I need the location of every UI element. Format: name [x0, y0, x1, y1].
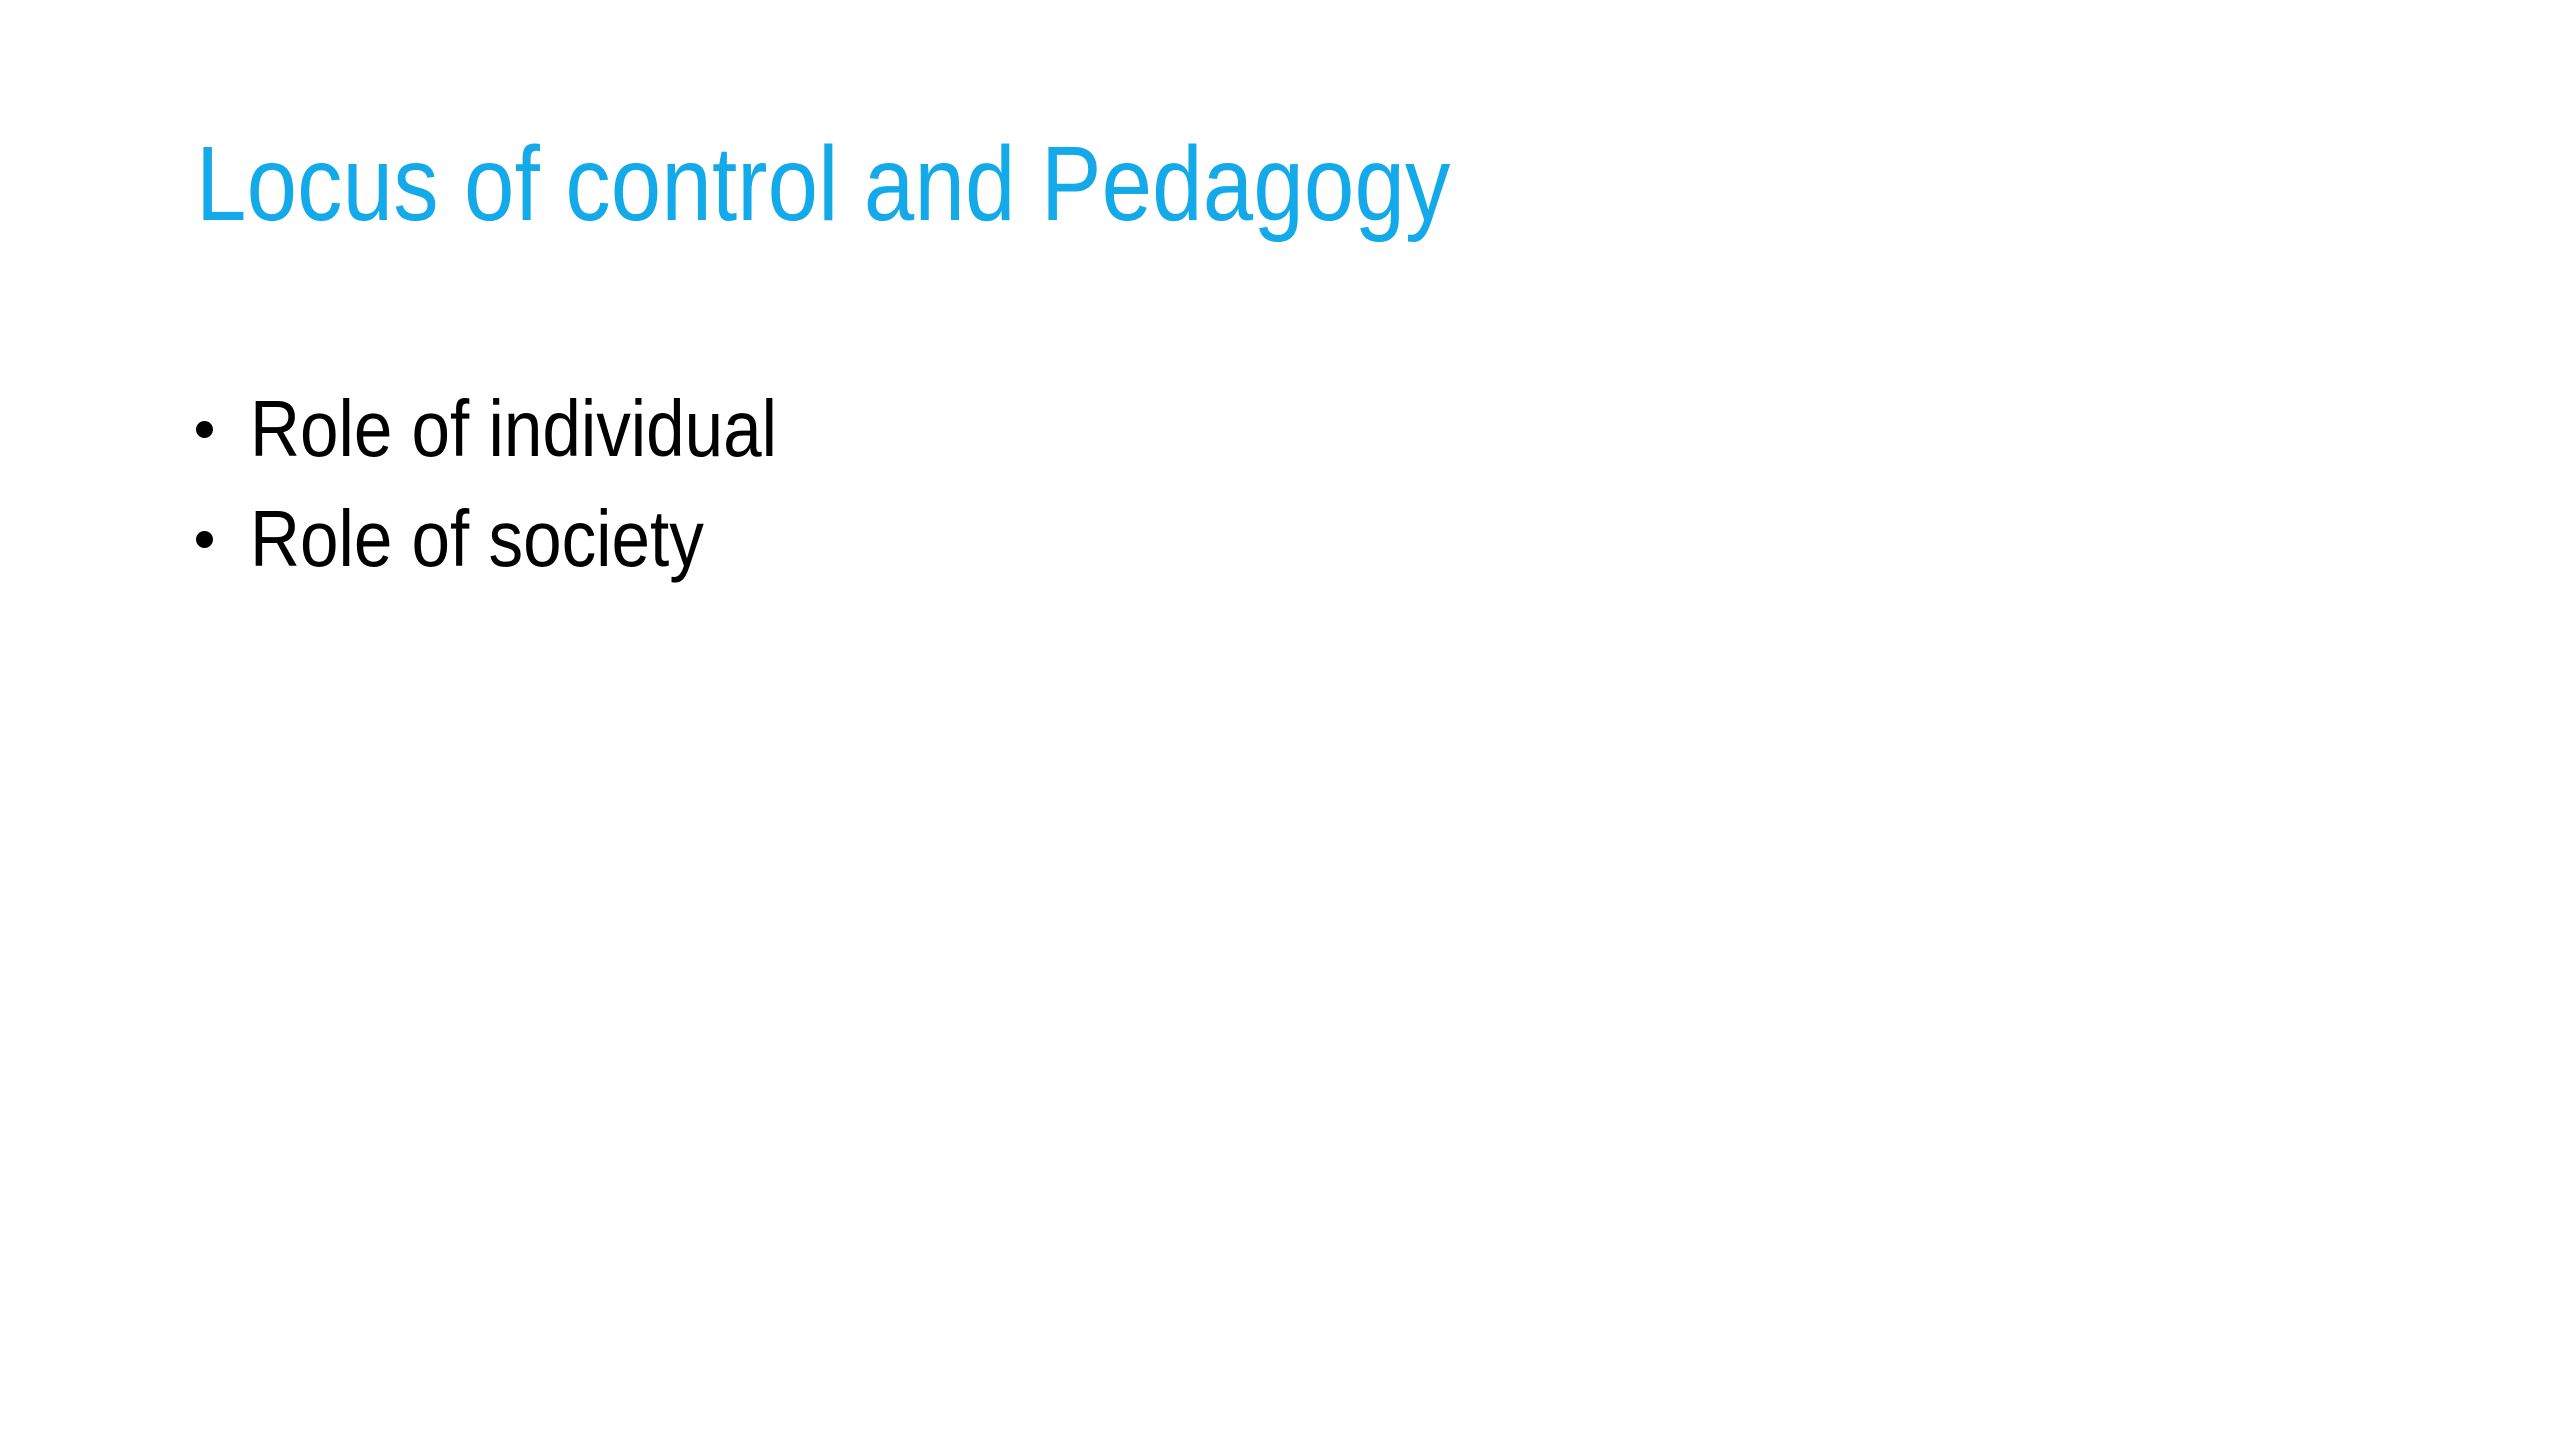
bullet-list: Role of individual Role of society	[196, 374, 2376, 594]
empty-content-area	[0, 620, 2560, 1440]
bullet-dot-icon	[196, 421, 213, 438]
slide-title-placeholder[interactable]: Locus of control and Pedagogy	[196, 118, 2376, 278]
list-item[interactable]: Role of individual	[196, 374, 2376, 484]
bullet-dot-icon	[196, 531, 213, 548]
list-item-label: Role of society	[250, 484, 704, 594]
list-item[interactable]: Role of society	[196, 484, 2376, 594]
slide-canvas: Locus of control and Pedagogy Role of in…	[0, 0, 2560, 1440]
slide-body-placeholder[interactable]: Role of individual Role of society	[196, 374, 2376, 594]
list-item-label: Role of individual	[250, 374, 777, 484]
page-title: Locus of control and Pedagogy	[196, 118, 2060, 250]
